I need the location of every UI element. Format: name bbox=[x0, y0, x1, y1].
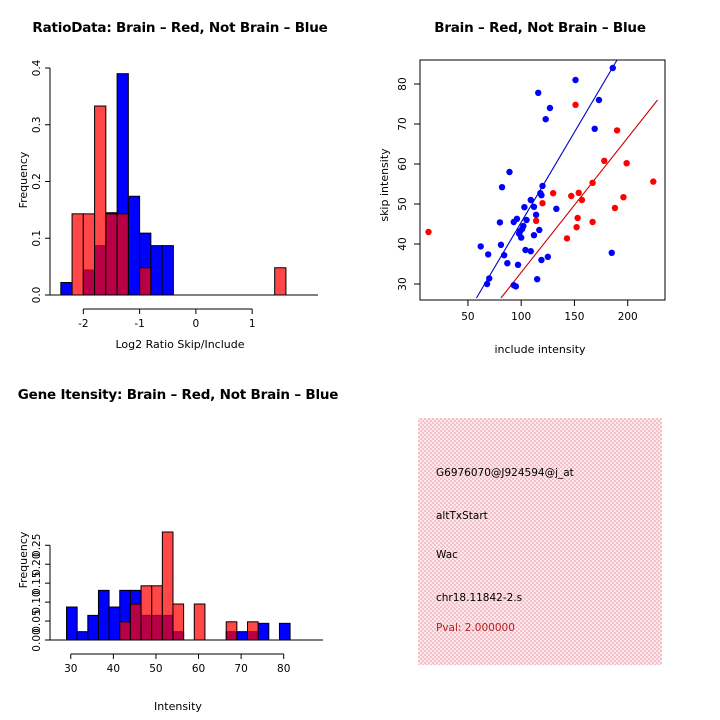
scatter-trend-lines bbox=[476, 60, 657, 298]
ratio-histogram-xaxis: -2-101 bbox=[78, 309, 255, 330]
x-tick-label: -1 bbox=[134, 318, 144, 330]
x-tick-label: 0 bbox=[193, 318, 200, 330]
gene-intensity-histogram-panel: Gene Itensity: Brain – Red, Not Brain – … bbox=[0, 360, 360, 720]
scatter-point bbox=[573, 224, 579, 230]
histogram-bar bbox=[72, 214, 83, 295]
intensity-scatter-ylabel: skip intensity bbox=[378, 148, 391, 221]
scatter-point bbox=[521, 204, 527, 210]
scatter-point bbox=[538, 257, 544, 263]
scatter-point bbox=[485, 251, 491, 257]
y-tick-label: 50 bbox=[397, 197, 409, 210]
scatter-yaxis: 304050607080 bbox=[397, 77, 420, 290]
histogram-bar bbox=[128, 196, 139, 295]
x-tick-label: 50 bbox=[149, 663, 162, 675]
scatter-point bbox=[522, 247, 528, 253]
histogram-bar bbox=[117, 214, 128, 295]
scatter-point bbox=[620, 194, 626, 200]
scatter-points bbox=[425, 65, 656, 290]
scatter-point bbox=[568, 193, 574, 199]
scatter-point bbox=[539, 200, 545, 206]
scatter-point bbox=[515, 262, 521, 268]
y-tick-label: 0.0 bbox=[31, 287, 43, 304]
ratio-histogram-ylabel: Frequency bbox=[17, 152, 30, 209]
scatter-point bbox=[533, 218, 539, 224]
info-line-gene-symbol: Wac bbox=[436, 549, 458, 561]
gene-intensity-histogram-plot: 0.000.050.100.150.200.25304050607080 bbox=[0, 360, 360, 720]
y-tick-label: 0.4 bbox=[31, 59, 43, 76]
scatter-point bbox=[528, 197, 534, 203]
histogram-bar bbox=[258, 623, 269, 640]
scatter-xaxis: 50100150200 bbox=[461, 300, 637, 323]
scatter-point bbox=[576, 190, 582, 196]
scatter-point bbox=[536, 227, 542, 233]
histogram-bar bbox=[152, 586, 163, 640]
y-tick-label: 60 bbox=[397, 157, 409, 170]
scatter-point bbox=[504, 260, 510, 266]
scatter-point bbox=[612, 205, 618, 211]
histogram-bar bbox=[162, 246, 173, 295]
scatter-point bbox=[609, 250, 615, 256]
histogram-bar bbox=[106, 214, 117, 295]
scatter-point bbox=[486, 275, 492, 281]
y-tick-label: 0.1 bbox=[31, 230, 43, 247]
histogram-bar bbox=[141, 586, 152, 640]
histogram-bar bbox=[151, 246, 162, 295]
x-tick-label: 50 bbox=[461, 311, 474, 323]
histogram-bar bbox=[109, 607, 120, 640]
gene-info-panel: G6976070@J924594@j_at altTxStart Wac chr… bbox=[418, 418, 662, 665]
ratio-histogram-xlabel: Log2 Ratio Skip/Include bbox=[115, 338, 244, 351]
scatter-point bbox=[547, 105, 553, 111]
histogram-bar bbox=[83, 214, 94, 295]
ratio-histogram-plot: 0.00.10.20.30.4-2-101 bbox=[0, 0, 360, 360]
scatter-point bbox=[596, 97, 602, 103]
scatter-point bbox=[614, 127, 620, 133]
scatter-point bbox=[572, 102, 578, 108]
scatter-point bbox=[550, 190, 556, 196]
histogram-bar bbox=[194, 604, 205, 640]
intensity-scatter-plot: 50100150200304050607080 bbox=[360, 0, 720, 360]
y-tick-label: 30 bbox=[397, 277, 409, 290]
scatter-point bbox=[425, 229, 431, 235]
x-tick-label: 70 bbox=[234, 663, 247, 675]
y-tick-label: 40 bbox=[397, 237, 409, 250]
scatter-point bbox=[518, 234, 524, 240]
scatter-point bbox=[572, 77, 578, 83]
trend-line bbox=[476, 60, 617, 298]
histogram-bar bbox=[279, 623, 290, 640]
histogram-bar bbox=[275, 268, 286, 295]
scatter-point bbox=[592, 126, 598, 132]
x-tick-label: 80 bbox=[277, 663, 290, 675]
scatter-point bbox=[589, 219, 595, 225]
y-tick-label: 70 bbox=[397, 117, 409, 130]
scatter-point bbox=[531, 232, 537, 238]
scatter-point bbox=[506, 169, 512, 175]
scatter-point bbox=[538, 192, 544, 198]
scatter-point bbox=[478, 243, 484, 249]
scatter-point bbox=[513, 283, 519, 289]
info-line-probeset: G6976070@J924594@j_at bbox=[436, 467, 574, 479]
x-tick-label: 30 bbox=[64, 663, 77, 675]
scatter-point bbox=[589, 180, 595, 186]
info-line-pvalue: Pval: 2.000000 bbox=[436, 622, 515, 634]
scatter-point bbox=[545, 254, 551, 260]
x-tick-label: 200 bbox=[618, 311, 638, 323]
ratio-histogram-panel: RatioData: Brain – Red, Not Brain – Blue… bbox=[0, 0, 360, 360]
gene-intensity-histogram-ylabel: Frequency bbox=[17, 532, 30, 589]
scatter-point bbox=[484, 281, 490, 287]
gene-intensity-histogram-xlabel: Intensity bbox=[154, 700, 202, 713]
histogram-bar bbox=[237, 632, 248, 640]
x-tick-label: 60 bbox=[192, 663, 205, 675]
x-tick-label: 100 bbox=[511, 311, 531, 323]
scatter-point bbox=[543, 116, 549, 122]
y-tick-label: 80 bbox=[397, 77, 409, 90]
scatter-point bbox=[650, 178, 656, 184]
scatter-point bbox=[574, 215, 580, 221]
scatter-plot-box bbox=[420, 60, 665, 300]
histogram-bar bbox=[130, 604, 141, 640]
histogram-bar bbox=[173, 604, 184, 640]
x-tick-label: 40 bbox=[107, 663, 120, 675]
scatter-point bbox=[501, 252, 507, 258]
scatter-point bbox=[528, 248, 534, 254]
scatter-point bbox=[531, 204, 537, 210]
y-tick-label: 0.2 bbox=[31, 173, 43, 190]
histogram-bar bbox=[120, 622, 131, 640]
histogram-bar bbox=[67, 607, 78, 640]
scatter-point bbox=[610, 65, 616, 71]
scatter-point bbox=[498, 242, 504, 248]
histogram-bar bbox=[98, 590, 109, 640]
x-tick-label: 1 bbox=[249, 318, 256, 330]
gene-intensity-histogram-xaxis: 304050607080 bbox=[64, 654, 290, 675]
x-tick-label: 150 bbox=[564, 311, 584, 323]
scatter-point bbox=[601, 158, 607, 164]
scatter-point bbox=[535, 90, 541, 96]
histogram-bar bbox=[140, 268, 151, 295]
info-line-event-type: altTxStart bbox=[436, 510, 488, 522]
scatter-point bbox=[534, 276, 540, 282]
scatter-point bbox=[499, 184, 505, 190]
ratio-histogram-bars bbox=[61, 74, 286, 295]
histogram-bar bbox=[88, 615, 99, 640]
scatter-point bbox=[564, 235, 570, 241]
histogram-bar bbox=[162, 532, 173, 640]
x-tick-label: -2 bbox=[78, 318, 88, 330]
info-line-coordinate: chr18.11842-2.s bbox=[436, 592, 522, 604]
y-tick-label: 0.3 bbox=[31, 116, 43, 133]
scatter-point bbox=[523, 217, 529, 223]
scatter-point bbox=[533, 212, 539, 218]
gene-intensity-histogram-yaxis: 0.000.050.100.150.200.25 bbox=[31, 534, 50, 652]
scatter-point bbox=[511, 219, 517, 225]
y-tick-label: 0.25 bbox=[31, 534, 43, 557]
scatter-point bbox=[623, 160, 629, 166]
histogram-bar bbox=[248, 622, 259, 640]
histogram-bar bbox=[95, 106, 106, 295]
histogram-bar bbox=[61, 283, 72, 295]
histogram-bar bbox=[77, 632, 88, 640]
scatter-point bbox=[579, 197, 585, 203]
histogram-bar bbox=[226, 622, 237, 640]
scatter-point bbox=[539, 183, 545, 189]
scatter-point bbox=[553, 206, 559, 212]
ratio-histogram-yaxis: 0.00.10.20.30.4 bbox=[31, 59, 50, 303]
intensity-scatter-xlabel: include intensity bbox=[494, 343, 585, 356]
scatter-point bbox=[497, 219, 503, 225]
gene-intensity-histogram-bars bbox=[67, 532, 291, 640]
intensity-scatter-panel: Brain – Red, Not Brain – Blue 5010015020… bbox=[360, 0, 720, 360]
